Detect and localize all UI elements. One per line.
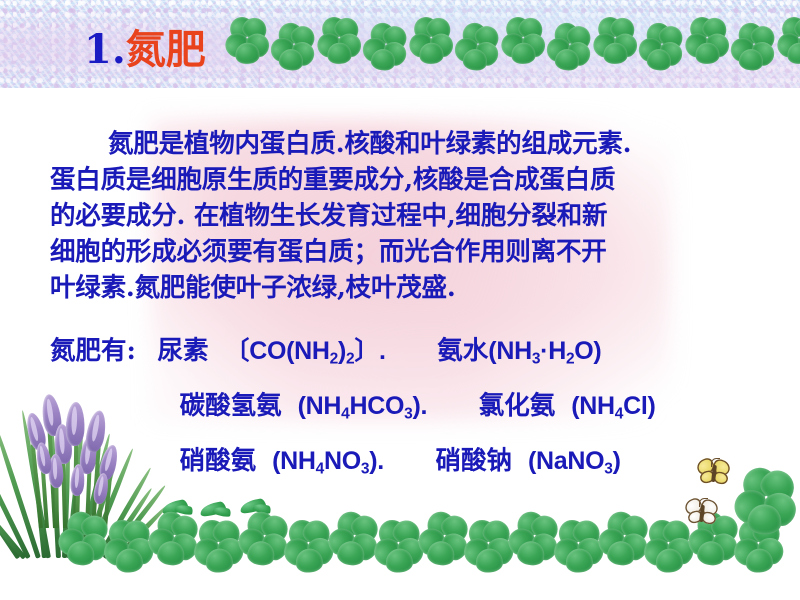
urea-name: 尿素 (158, 336, 209, 366)
page-title: 1.氮肥 (84, 30, 206, 70)
clover-leaf-icon (139, 509, 202, 572)
acl-subscript: 4 (615, 405, 623, 422)
sodium-nitrate-name: 硝酸钠 (435, 446, 512, 476)
urea-formula-part: ) (338, 337, 346, 365)
urea-bracket-open: 〔 (225, 337, 250, 365)
ammonium-nitrate-name: 硝酸氨 (180, 446, 257, 476)
clover-leaf-icon (454, 517, 517, 580)
urea-period: . (379, 337, 386, 365)
urea-formula-part: CO(NH (249, 337, 329, 365)
ammonia-formula-part: ·H (540, 337, 566, 365)
fertilizer-row: 氮肥有: 尿素〔CO(NH2)2〕. 氨水(NH3·H2O) (50, 330, 790, 385)
acl-formula-part: Cl) (623, 392, 655, 420)
paragraph-line: 的必要成分. 在植物生长发育过程中,细胞分裂和新 (50, 198, 766, 234)
an-formula-part: NO (324, 447, 361, 475)
title-heading: 氮肥 (126, 26, 206, 73)
flower-stem (54, 482, 59, 528)
fertilizer-row: 硝酸氨(NH4NO3). 硝酸钠(NaNO3) (50, 440, 790, 495)
yellow-butterfly-icon (694, 458, 734, 490)
an-subscript: 3 (361, 460, 369, 477)
clover-leaf-icon (229, 509, 292, 572)
crocus-flower-cluster-icon (2, 378, 137, 558)
butterfly-antenna (699, 498, 708, 507)
white-butterfly-icon (682, 498, 722, 530)
ammonia-formula-part: (NH (488, 337, 532, 365)
crocus-bud-icon (65, 402, 85, 447)
ammonium-bicarbonate-name: 碳酸氢氨 (180, 391, 282, 421)
paragraph-line: 氮肥是植物内蛋白质.核酸和叶绿素的组成元素. (50, 126, 766, 162)
small-leaf-sprig-icon (240, 499, 274, 515)
paragraph-line: 蛋白质是细胞原生质的重要成分,核酸是合成蛋白质 (50, 162, 766, 198)
clover-leaf-icon (544, 517, 607, 580)
slide-canvas: 1.氮肥 氮肥是植物内蛋白质.核酸和叶绿素的组成元素. 蛋白质是细胞原生质的重要… (0, 0, 800, 600)
abc-formula-part: HCO (349, 392, 404, 420)
small-leaf-sprig-icon (162, 500, 196, 516)
clover-leaf-icon (184, 517, 247, 580)
fertilizer-row: 碳酸氢氨(NH4HCO3). 氯化氨(NH4Cl) (50, 385, 790, 440)
an-subscript: 4 (316, 460, 324, 477)
paragraph-line: 细胞的形成必须要有蛋白质；而光合作用则离不开 (50, 234, 766, 270)
urea-bracket-close: 〕 (354, 337, 379, 365)
urea-subscript: 2 (330, 350, 338, 367)
small-leaf-sprig-icon (200, 502, 234, 518)
ammonia-formula-part: O) (574, 337, 601, 365)
clover-leaf-icon (364, 517, 427, 580)
fertilizer-list: 氮肥有: 尿素〔CO(NH2)2〕. 氨水(NH3·H2O) 碳酸氢氨(NH4H… (50, 330, 790, 495)
sn-subscript: 3 (604, 460, 612, 477)
clover-leaf-icon (274, 517, 337, 580)
ammonia-name: 氨水 (437, 336, 488, 366)
ammonia-subscript: 3 (532, 350, 540, 367)
sn-formula-part: ) (613, 447, 621, 475)
clover-leaf-icon (409, 509, 472, 572)
butterfly-antenna (711, 458, 720, 467)
clover-cluster-icon (726, 468, 800, 576)
clover-leaf-icon (499, 509, 562, 572)
acl-formula-part: (NH (571, 392, 615, 420)
title-number: 1. (84, 26, 126, 73)
abc-formula-part: (NH (298, 392, 342, 420)
sn-formula-part: (NaNO (528, 447, 604, 475)
abc-formula-part: ). (412, 392, 427, 420)
clover-leaf-icon (319, 509, 382, 572)
an-formula-part: ). (369, 447, 384, 475)
body-paragraph: 氮肥是植物内蛋白质.核酸和叶绿素的组成元素. 蛋白质是细胞原生质的重要成分,核酸… (50, 126, 766, 306)
list-lead-label: 氮肥有: (50, 336, 136, 366)
an-formula-part: (NH (272, 447, 316, 475)
ammonium-chloride-name: 氯化氨 (479, 391, 556, 421)
clover-leaf-icon (589, 509, 652, 572)
paragraph-line: 叶绿素.氮肥能使叶子浓绿,枝叶茂盛. (50, 270, 766, 306)
